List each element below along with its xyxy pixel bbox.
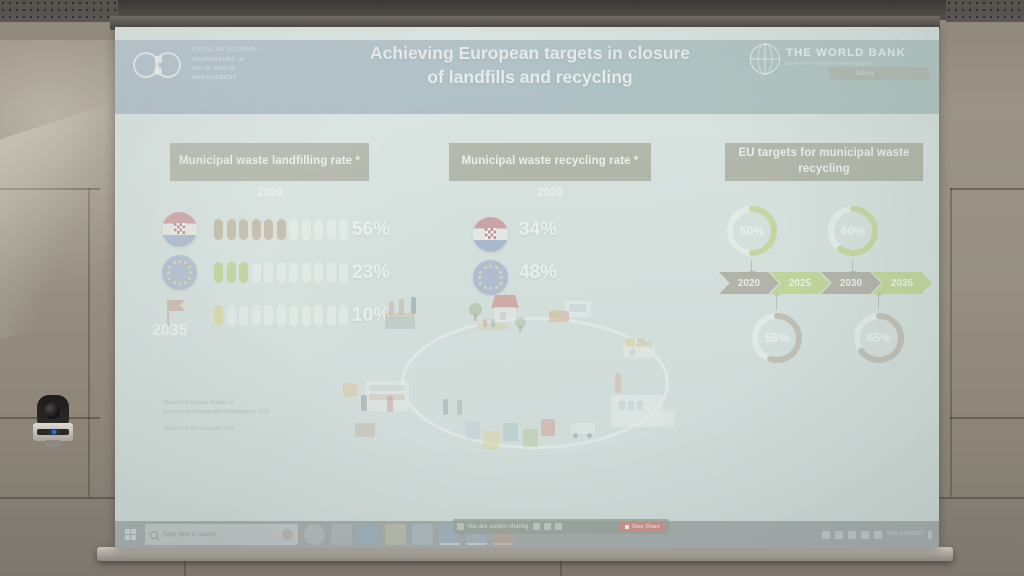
gauge-segment [327,305,336,326]
eu-star [500,276,503,279]
globe-icon [750,44,780,74]
ceiling-acoustic-panel-right [946,0,1024,22]
infinity-icon [133,50,185,80]
gauge-segment [239,219,248,240]
gauge-segment [277,305,286,326]
footnote-eu-source: *Source for EU: Eurostat, 2020 [163,425,234,434]
wall-seam [0,188,100,190]
landfilling-year-label: 2020 [210,187,330,199]
landfilling-gauge-eu [214,262,348,283]
recycling-year-label: 2020 [490,187,610,199]
wall-vertical-seam [88,188,90,497]
gauge-segment [252,262,261,283]
shield-icon[interactable] [555,523,562,530]
recycling-value-eu: 48% [519,262,557,284]
start-button[interactable] [115,521,145,548]
maximize-icon[interactable]: □ [912,29,916,37]
clock[interactable]: 9:04 10/6/2021 [887,531,923,538]
landfilling-gauge-croatia [214,219,348,240]
stop-square-icon [625,525,629,529]
screen-share-icon [457,523,464,530]
croatia-flag-icon [162,212,197,247]
timeline-chevron-2030[interactable]: 2030 [821,272,881,294]
eu-flag-icon [162,255,197,290]
donut-connector [751,260,752,272]
outlook-icon[interactable] [412,524,433,545]
system-tray: 9:04 10/6/2021 [822,531,939,539]
target-donut-2020: 50% [723,202,781,260]
eu-star [479,271,482,274]
page-title: Achieving European targets in closure of… [365,41,695,89]
landfilling-value-croatia: 56% [352,219,390,241]
world-bank-subtitle: IBRD • IDA | WORLD BANK GROUP [786,61,906,66]
eu-star [178,282,181,285]
gauge-segment [302,219,311,240]
eu-star [168,266,171,269]
screen-share-bar[interactable]: You are screen sharing Stop Share [453,519,669,534]
eu-star [184,261,187,264]
landfilling-gauge-target [214,305,348,326]
gauge-segment [214,305,223,326]
minimize-icon[interactable]: – [899,29,903,37]
eu-stars [162,255,197,290]
target-donut-2030: 60% [824,202,882,260]
eu-star [168,277,171,280]
target-donut-label: 60% [824,202,882,260]
wall-seam [950,417,1024,419]
target-donut-2025: 55% [748,309,806,367]
eu-star [178,260,181,263]
gauge-segment [327,219,336,240]
video-camera-icon[interactable] [544,523,551,530]
camera-lens-icon [44,403,60,419]
widgets-icon[interactable] [331,524,352,545]
screen-bottom-weight-bar [97,547,953,561]
gauge-segment [264,305,273,326]
gauge-segment [214,262,223,283]
section-heading-recycling: Municipal waste recycling rate * [449,143,651,181]
presentation-slide: – □ ✕ CIRCULAR ECONOMY APPROACHES IN SOL… [115,27,939,521]
gauge-segment [227,262,236,283]
landfilling-value-eu: 23% [352,262,390,284]
croatia-flag-icon [473,217,508,252]
world-bank-logo: THE WORLD BANK IBRD • IDA | WORLD BANK G… [750,43,925,89]
footnote-croatia-source: *Source for Croatia: Ministry of Economy… [163,399,270,417]
logo-text: CIRCULAR ECONOMY APPROACHES IN SOLID WAS… [192,46,258,84]
target-donut-2035: 65% [850,309,908,367]
gauge-segment [252,219,261,240]
close-icon[interactable]: ✕ [925,29,931,37]
landfilling-target-year: 2035 [152,322,188,340]
gauge-segment [289,305,298,326]
eu-star [173,281,176,284]
target-donut-label: 50% [723,202,781,260]
donut-connector [852,260,853,272]
eu-star [188,266,191,269]
gauge-segment [264,219,273,240]
gauge-segment [314,305,323,326]
eu-star [484,266,487,269]
eu-star [173,261,176,264]
search-input[interactable]: Type here to search [145,524,298,545]
eu-star [479,282,482,285]
network-icon[interactable] [848,531,856,539]
world-bank-name: THE WORLD BANK [786,47,906,59]
gauge-segment [252,305,261,326]
target-donut-label: 65% [850,309,908,367]
gauge-segment [289,262,298,283]
talking-indicator: Talking [829,67,929,80]
eu-star [478,276,481,279]
eu-star [499,271,502,274]
gauge-segment [302,305,311,326]
gauge-segment [314,219,323,240]
share-status-text: You are screen sharing [467,524,529,530]
gauge-segment [302,262,311,283]
windows-logo-icon [125,529,136,540]
gauge-segment [227,305,236,326]
eu-star [189,271,192,274]
gauge-segment [339,219,348,240]
gauge-segment [327,262,336,283]
gauge-segment [227,219,236,240]
gauge-segment [239,262,248,283]
camera-status-led [52,430,56,434]
search-placeholder: Type here to search [163,532,216,538]
ptz-camera [33,395,73,447]
task-view-icon[interactable] [304,524,325,545]
gauge-segment [339,305,348,326]
gauge-segment [277,219,286,240]
iso-garden [477,319,509,331]
share-status-group: You are screen sharing [457,523,529,530]
projected-desktop: – □ ✕ CIRCULAR ECONOMY APPROACHES IN SOL… [115,27,939,548]
eu-star [499,282,502,285]
eu-star [167,271,170,274]
edge-icon[interactable] [358,524,379,545]
search-icon [150,531,158,539]
donut-connector [776,295,777,310]
chevron-up-icon[interactable] [822,531,830,539]
gauge-segment [339,262,348,283]
stop-share-label: Stop Share [632,524,660,530]
section-heading-eu-targets: EU targets for municipal waste recycling [725,143,923,181]
battery-icon[interactable] [874,531,882,539]
circular-economy-illustration [365,289,705,474]
wall-seam [950,188,1024,190]
eu-star [495,266,498,269]
donut-connector [878,295,879,310]
section-heading-landfilling: Municipal waste landfilling rate * [170,143,369,181]
volume-icon[interactable] [861,531,869,539]
eu-star [188,277,191,280]
gauge-segment [277,262,286,283]
cortana-icon[interactable] [282,529,293,540]
eu-star [489,265,492,268]
window-controls[interactable]: – □ ✕ [899,29,931,37]
circular-economy-logo: CIRCULAR ECONOMY APPROACHES IN SOLID WAS… [133,41,333,89]
eu-targets-timeline: 2020 2025 2030 2035 [719,272,931,294]
recycling-value-croatia: 34% [519,219,557,241]
stop-share-button[interactable]: Stop Share [620,522,665,532]
gauge-segment [239,305,248,326]
target-donut-label: 55% [748,309,806,367]
gauge-segment [214,219,223,240]
gauge-segment [264,262,273,283]
eu-star [184,281,187,284]
show-desktop-button[interactable] [928,531,932,539]
timeline-chevron-2020[interactable]: 2020 [719,272,779,294]
gauge-segment [314,262,323,283]
camera-wall-mount [46,440,60,447]
microphone-icon[interactable] [533,523,540,530]
projection-screen: – □ ✕ CIRCULAR ECONOMY APPROACHES IN SOL… [97,16,953,561]
gauge-segment [289,219,298,240]
onedrive-icon[interactable] [835,531,843,539]
file-explorer-icon[interactable] [385,524,406,545]
